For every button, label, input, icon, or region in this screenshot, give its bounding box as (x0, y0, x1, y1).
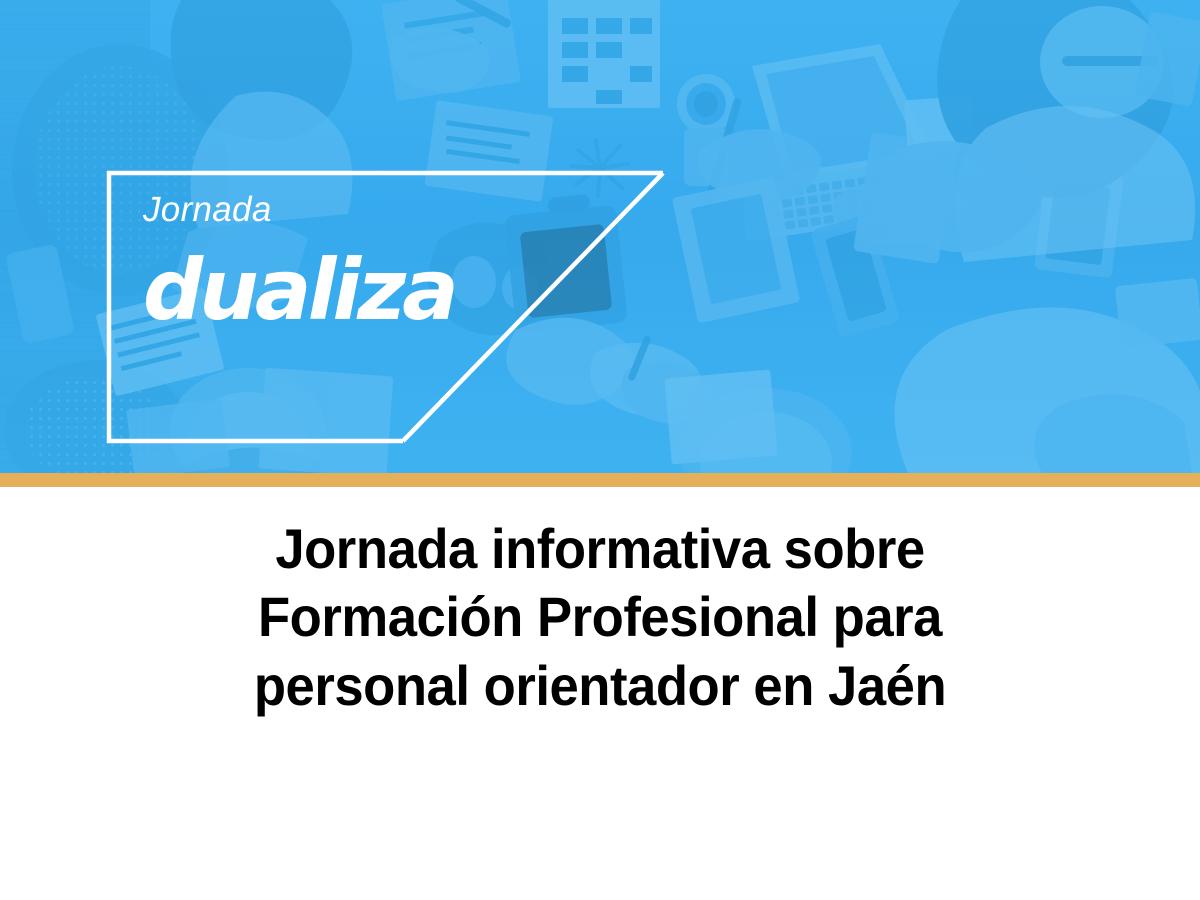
logo-wordmark-dualiza: dualiza (143, 251, 603, 331)
gold-divider-rule (0, 473, 1200, 487)
poster-canvas: Jornada dualiza Jornada informativa sobr… (0, 0, 1200, 900)
page-title-line: Jornada informativa sobre (275, 517, 924, 580)
logo-kicker-jornada: Jornada (143, 192, 603, 227)
page-title-line: Formación Profesional para (258, 585, 942, 648)
page-title-line: personal orientador en Jaén (254, 654, 946, 717)
logo-lockup: Jornada dualiza (143, 192, 603, 331)
title-section: Jornada informativa sobre Formación Prof… (0, 487, 1200, 900)
page-title: Jornada informativa sobre Formación Prof… (125, 515, 1074, 720)
